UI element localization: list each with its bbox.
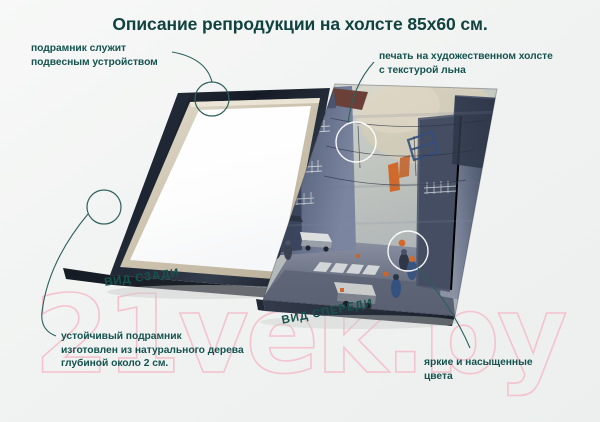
leader-line-colors bbox=[418, 268, 470, 348]
callout-circle-canvas-texture bbox=[336, 122, 376, 162]
page-title: Описание репродукции на холсте 85х60 см. bbox=[0, 14, 600, 35]
callout-circle-stretcher-bottom bbox=[87, 190, 121, 224]
callout-circle-colors bbox=[388, 231, 428, 271]
annotation-canvas-print: печать на художественном холсте с тексту… bbox=[379, 50, 553, 77]
annotation-vivid-colors: яркие и насыщенные цвета bbox=[424, 356, 533, 383]
annotation-stretcher-hanging: подрамник служит подвесным устройством bbox=[31, 42, 158, 69]
annotation-wood-stretcher: устойчивый подрамник изготовлен из натур… bbox=[61, 330, 244, 371]
leader-line-canvas-texture bbox=[348, 62, 374, 124]
leader-line-stretcher-top bbox=[172, 52, 212, 82]
callout-circle-stretcher-top bbox=[195, 82, 229, 116]
infographic-page: 21vek.by bbox=[0, 0, 600, 422]
leader-line-stretcher-bottom bbox=[42, 214, 88, 336]
